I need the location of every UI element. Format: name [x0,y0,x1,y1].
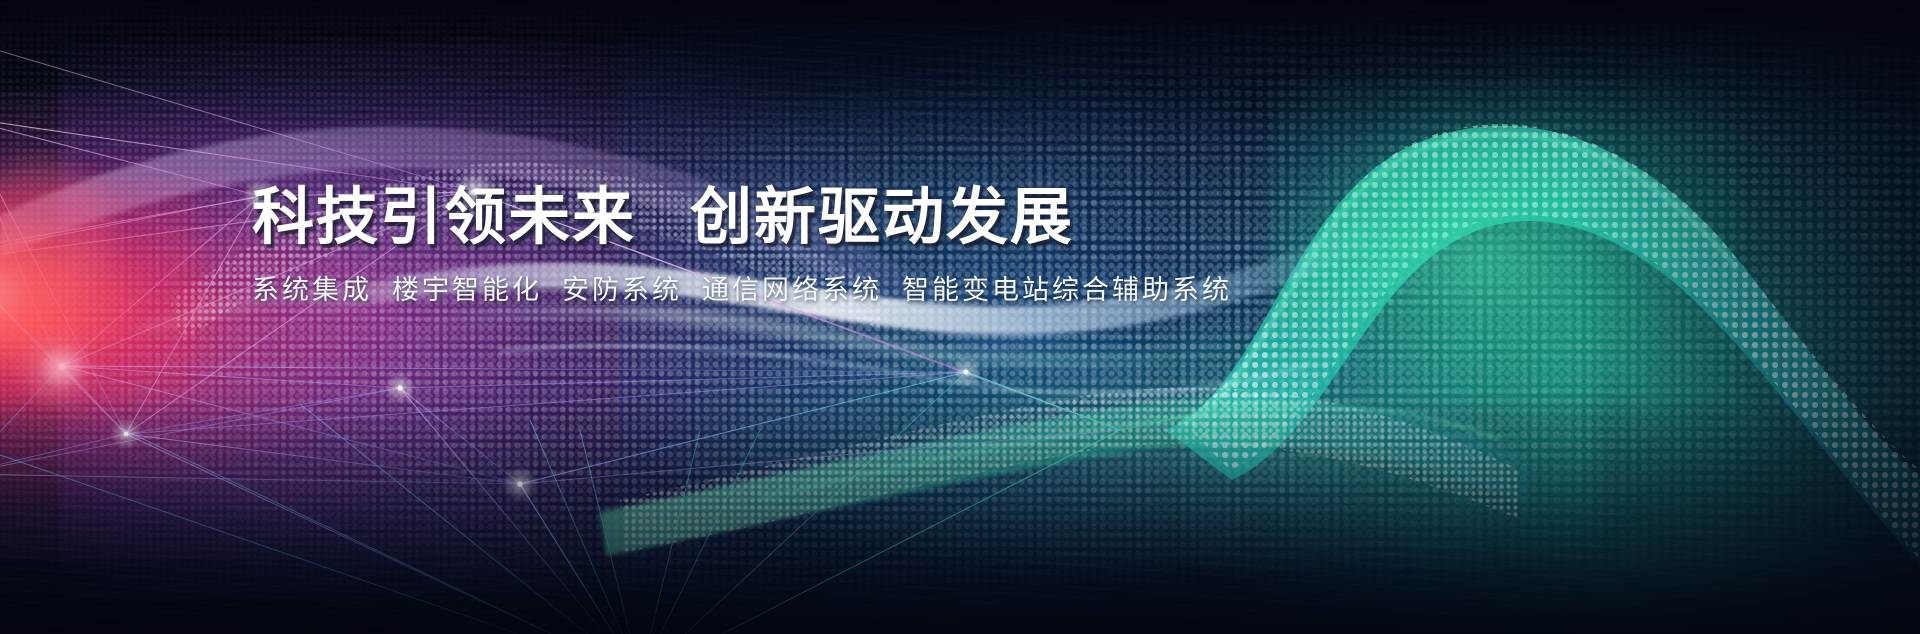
headline-part-right: 创新驱动发展 [690,180,1074,253]
network-lines-cyan [0,372,1120,634]
hero-banner: 科技引领未来创新驱动发展 系统集成楼宇智能化安防系统通信网络系统智能变电站综合辅… [0,0,1920,634]
banner-copy: 科技引领未来创新驱动发展 系统集成楼宇智能化安防系统通信网络系统智能变电站综合辅… [252,186,1412,304]
subtitle-item-0: 系统集成 [252,275,372,306]
subtitle-item-1: 楼宇智能化 [392,275,542,306]
red-hot-core [0,180,200,410]
banner-subtitle: 系统集成楼宇智能化安防系统通信网络系统智能变电站综合辅助系统 [252,248,1412,304]
subtitle-item-3: 通信网络系统 [702,275,882,306]
subtitle-item-4: 智能变电站综合辅助系统 [902,275,1232,306]
banner-headline: 科技引领未来创新驱动发展 [252,186,1412,248]
headline-part-left: 科技引领未来 [252,180,636,253]
subtitle-item-2: 安防系统 [562,275,682,306]
